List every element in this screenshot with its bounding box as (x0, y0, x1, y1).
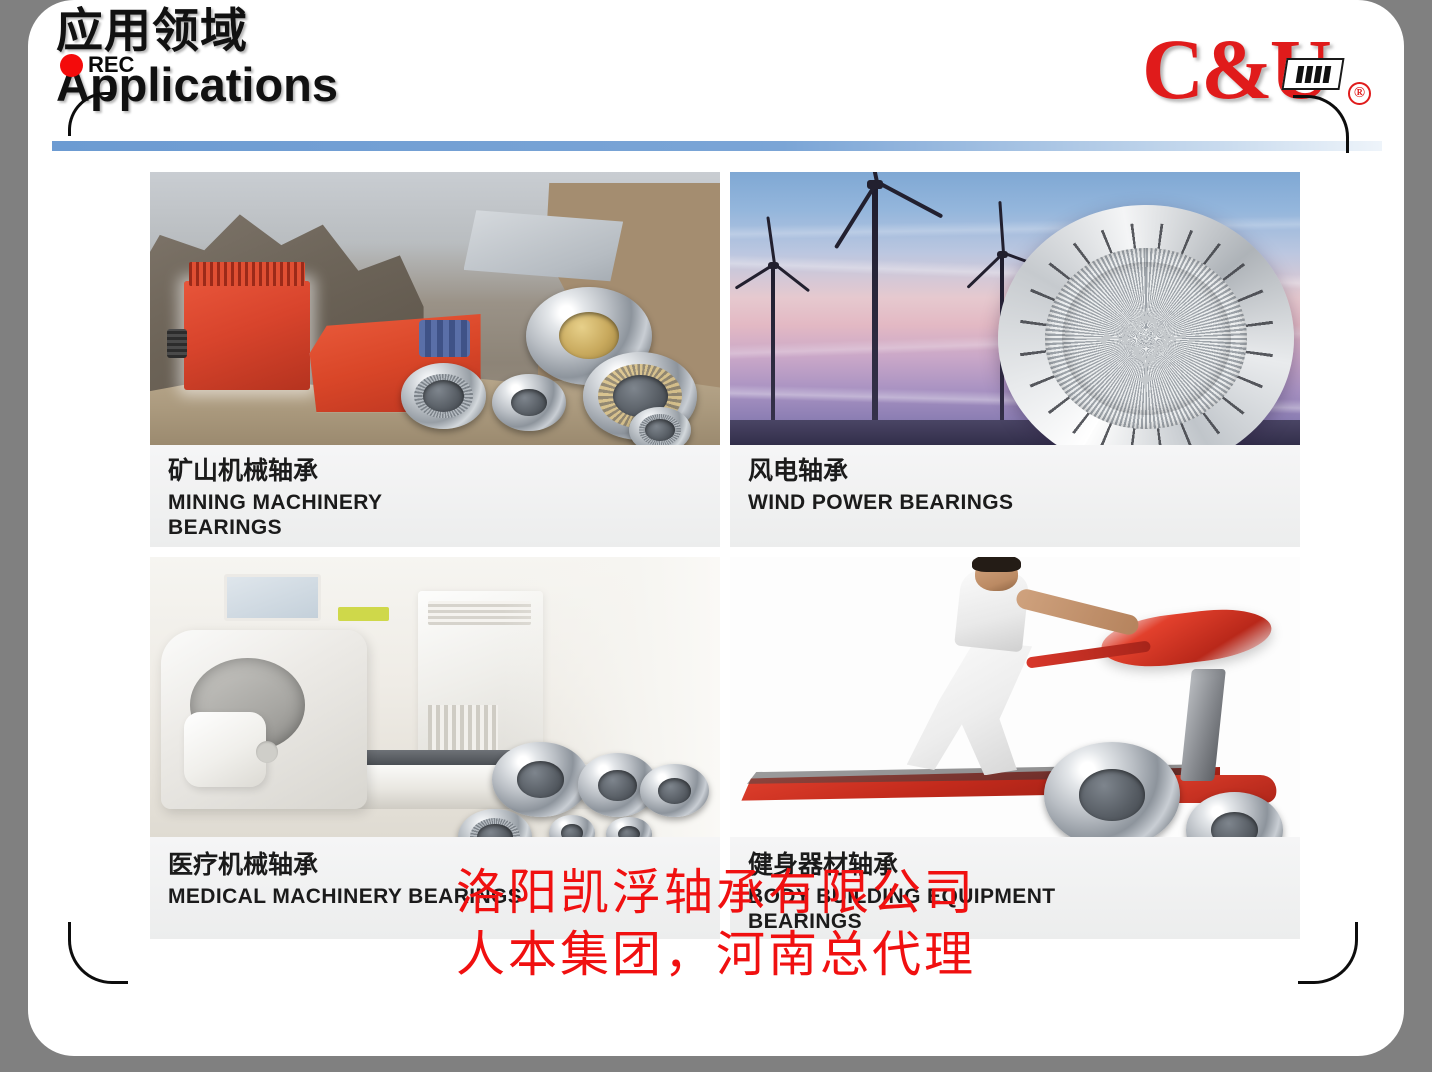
mining-title-english: MINING MACHINERY BEARINGS (168, 490, 710, 540)
corner-bracket-bottom-right (1298, 922, 1358, 984)
application-card-mining[interactable]: 矿山机械轴承 MINING MACHINERY BEARINGS (150, 172, 720, 547)
recording-indicator: REC (60, 52, 134, 78)
page-title-chinese: 应用领域 (56, 6, 338, 58)
medical-title-chinese: 医疗机械轴承 (168, 849, 710, 880)
medical-machinery-image (150, 557, 720, 837)
fitness-title-english-line2: BEARINGS (748, 909, 1290, 934)
medical-title-english: MEDICAL MACHINERY BEARINGS (168, 884, 710, 909)
registered-trademark-icon: ® (1348, 82, 1371, 105)
medical-title-english-line1: MEDICAL MACHINERY BEARINGS (168, 884, 710, 909)
wind-card-caption: 风电轴承 WIND POWER BEARINGS (748, 455, 1290, 515)
applications-grid: 矿山机械轴承 MINING MACHINERY BEARINGS (150, 172, 1300, 939)
medical-card-caption: 医疗机械轴承 MEDICAL MACHINERY BEARINGS (168, 849, 710, 909)
corner-bracket-bottom-left (68, 922, 128, 984)
wind-power-image (730, 172, 1300, 445)
wind-title-english-line1: WIND POWER BEARINGS (748, 490, 1290, 515)
mining-machinery-image (150, 172, 720, 445)
header-divider (52, 141, 1382, 151)
fitness-title-chinese: 健身器材轴承 (748, 849, 1290, 880)
mining-card-caption: 矿山机械轴承 MINING MACHINERY BEARINGS (168, 455, 710, 540)
presentation-slide: 应用领域 Applications REC C&U ® (28, 0, 1404, 1056)
slide-header: 应用领域 Applications REC C&U ® (28, 0, 1404, 160)
wind-title-english: WIND POWER BEARINGS (748, 490, 1290, 515)
mining-title-english-line1: MINING MACHINERY (168, 490, 710, 515)
record-dot-icon (60, 54, 83, 77)
application-card-fitness[interactable]: 健身器材轴承 BODY BUILDING EQUIPMENT BEARINGS (730, 557, 1300, 939)
application-card-wind-power[interactable]: 风电轴承 WIND POWER BEARINGS (730, 172, 1300, 547)
application-card-medical[interactable]: 医疗机械轴承 MEDICAL MACHINERY BEARINGS (150, 557, 720, 939)
mining-title-english-line2: BEARINGS (168, 515, 710, 540)
wind-title-chinese: 风电轴承 (748, 455, 1290, 486)
fitness-title-english: BODY BUILDING EQUIPMENT BEARINGS (748, 884, 1290, 934)
brand-bars-icon (1281, 58, 1344, 90)
fitness-card-caption: 健身器材轴承 BODY BUILDING EQUIPMENT BEARINGS (748, 849, 1290, 934)
record-label: REC (88, 52, 134, 78)
mining-title-chinese: 矿山机械轴承 (168, 455, 710, 486)
body-building-equipment-image (730, 557, 1300, 837)
fitness-title-english-line1: BODY BUILDING EQUIPMENT (748, 884, 1290, 909)
